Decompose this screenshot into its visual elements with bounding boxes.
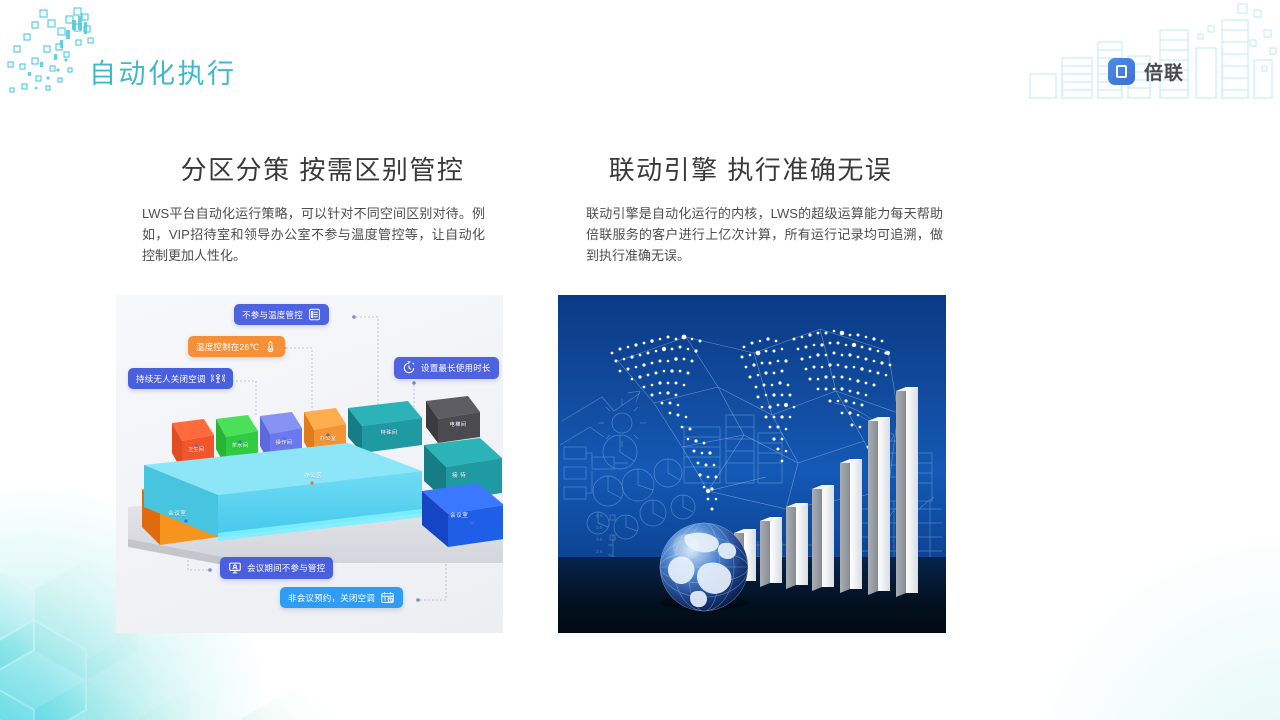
content-column-right: 联动引擎 执行准确无误 联动引擎是自动化运行的内核，LWS的超级运算能力每天帮助… bbox=[558, 150, 953, 266]
column-right-body: 联动引擎是自动化运行的内核，LWS的超级运算能力每天帮助倍联服务的客户进行上亿次… bbox=[558, 203, 953, 266]
page-title: 自动化执行 bbox=[89, 52, 237, 91]
room-label-elevator: 电梯间 bbox=[436, 421, 480, 428]
brand-name-label: 倍联 bbox=[1144, 58, 1184, 85]
zone-label-meeting-room-orange: 会议室 bbox=[168, 509, 186, 517]
document-list-icon bbox=[308, 308, 321, 321]
room-label-restroom: 卫生间 bbox=[174, 446, 218, 453]
callout-temperature-26c[interactable]: 温度控制在26℃ bbox=[188, 336, 285, 357]
callout-label: 会议期间不参与管控 bbox=[247, 562, 325, 574]
slide-header: 自动化执行 倍联 bbox=[0, 0, 1280, 112]
callout-label: 持续无人关闭空调 bbox=[136, 373, 206, 385]
zone-label-meeting-room-blue: 会议室 bbox=[450, 511, 468, 519]
callout-no-control-during-meeting[interactable]: 会议期间不参与管控 bbox=[220, 557, 333, 579]
callout-close-ac-when-vacant[interactable]: 持续无人关闭空调 bbox=[128, 368, 233, 389]
callout-no-temperature-control[interactable]: 不参与温度管控 bbox=[234, 304, 329, 325]
callout-set-max-usage-duration[interactable]: 设置最长使用时长 bbox=[394, 357, 499, 379]
content-column-left: 分区分策 按需区别管控 LWS平台自动化运行策略，可以针对不同空间区别对待。例如… bbox=[116, 150, 511, 266]
callout-label: 设置最长使用时长 bbox=[421, 362, 491, 374]
calendar-clock-icon bbox=[380, 591, 395, 604]
floor-plan-illustration: 卫生间 茶水间 操作间 办公室 特殊间 电梯间 办公区 会议室 会议室 接 待 … bbox=[116, 295, 503, 633]
zone-label-reception: 接 待 bbox=[452, 471, 466, 479]
callout-label: 不参与温度管控 bbox=[242, 309, 303, 321]
room-label-special: 特殊间 bbox=[364, 429, 414, 436]
slide-root: 自动化执行 倍联 分区分策 按需区别管控 LWS平台自动化运行策略，可以针对不同… bbox=[0, 0, 1280, 720]
column-left-body: LWS平台自动化运行策略，可以针对不同空间区别对待。例如，VIP招待室和领导办公… bbox=[116, 203, 511, 266]
presentation-icon bbox=[228, 561, 242, 575]
callout-label: 非会议预约，关闭空调 bbox=[288, 592, 375, 604]
data-visualization-image: 4.03.5 3.02.5 2.01.5 1.0 4.03.0 bbox=[558, 295, 946, 633]
zone-label-office-area: 办公区 bbox=[304, 471, 322, 479]
floor-plan-3d-model bbox=[116, 295, 503, 633]
motion-sensor-icon bbox=[211, 372, 225, 385]
column-right-heading: 联动引擎 执行准确无误 bbox=[558, 150, 953, 187]
room-label-operation: 操作间 bbox=[262, 439, 306, 446]
thermometer-icon bbox=[264, 340, 277, 353]
callout-close-ac-without-booking[interactable]: 非会议预约，关闭空调 bbox=[280, 587, 403, 608]
room-label-office: 办公室 bbox=[306, 435, 350, 442]
timer-clock-icon bbox=[402, 361, 416, 375]
rounded-square-logo-icon bbox=[1108, 58, 1135, 85]
callout-label: 温度控制在26℃ bbox=[196, 341, 259, 353]
bar-chart-3d-icon bbox=[558, 295, 946, 633]
room-label-pantry: 茶水间 bbox=[218, 442, 262, 449]
column-left-heading: 分区分策 按需区别管控 bbox=[116, 150, 511, 187]
brand-logo: 倍联 bbox=[1108, 58, 1184, 85]
corner-glow-bottom-right-decoration bbox=[1000, 540, 1280, 720]
city-skyline-decoration-icon bbox=[1010, 0, 1280, 110]
